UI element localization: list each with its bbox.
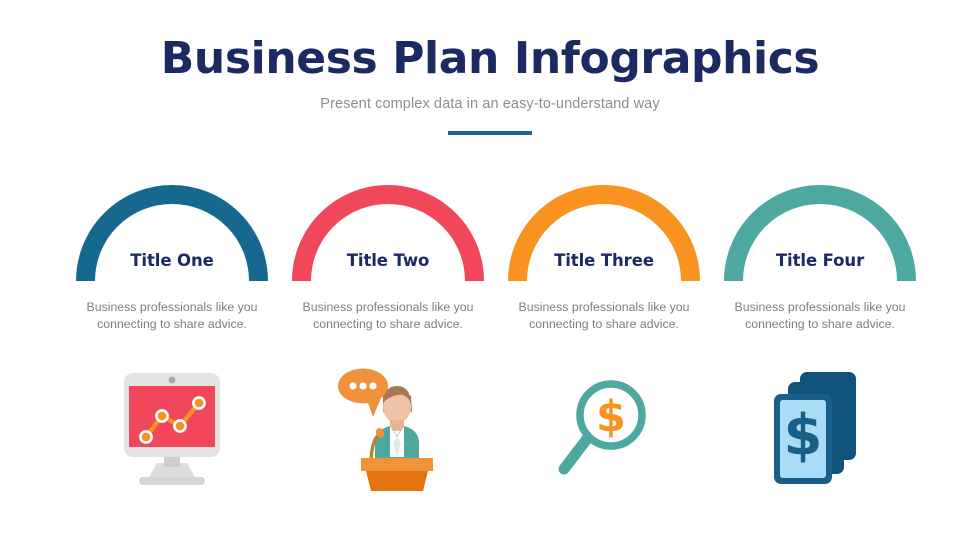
columns-row: Title One Business professionals like yo…	[0, 185, 980, 334]
column-three-description: Business professionals like you connecti…	[496, 299, 712, 334]
icon-cell-one	[64, 358, 280, 498]
column-four-description: Business professionals like you connecti…	[712, 299, 928, 334]
arc-one-wrap: Title One	[64, 185, 280, 285]
icons-row: $ $	[0, 358, 980, 498]
semicircle-arc-icon	[508, 185, 700, 285]
speaker-podium-icon	[333, 365, 443, 491]
arc-three-wrap: Title Three	[496, 185, 712, 285]
column-four-title: Title Four	[712, 251, 928, 270]
semicircle-arc-icon	[292, 185, 484, 285]
column-four: Title Four Business professionals like y…	[712, 185, 928, 334]
column-one-description: Business professionals like you connecti…	[64, 299, 280, 334]
column-two-description: Business professionals like you connecti…	[280, 299, 496, 334]
arc-two-wrap: Title Two	[280, 185, 496, 285]
title-divider	[448, 131, 532, 135]
page-title: Business Plan Infographics	[0, 36, 980, 82]
semicircle-arc-icon	[76, 185, 268, 285]
column-one: Title One Business professionals like yo…	[64, 185, 280, 334]
infographic-slide: Business Plan Infographics Present compl…	[0, 0, 980, 551]
icon-cell-four: $	[712, 358, 928, 498]
icon-cell-three: $	[496, 358, 712, 498]
page-subtitle: Present complex data in an easy-to-under…	[0, 96, 980, 112]
column-two: Title Two Business professionals like yo…	[280, 185, 496, 334]
svg-text:$: $	[596, 392, 626, 442]
column-three-title: Title Three	[496, 251, 712, 270]
column-three: Title Three Business professionals like …	[496, 185, 712, 334]
arc-four-wrap: Title Four	[712, 185, 928, 285]
header: Business Plan Infographics Present compl…	[0, 36, 980, 135]
icon-cell-two	[280, 358, 496, 498]
monitor-line-chart-icon	[113, 367, 231, 489]
column-two-title: Title Two	[280, 251, 496, 270]
magnifier-dollar-icon: $	[552, 373, 656, 483]
stacked-money-notes-icon: $	[766, 368, 874, 488]
svg-text:$: $	[784, 403, 823, 468]
column-one-title: Title One	[64, 251, 280, 270]
semicircle-arc-icon	[724, 185, 916, 285]
